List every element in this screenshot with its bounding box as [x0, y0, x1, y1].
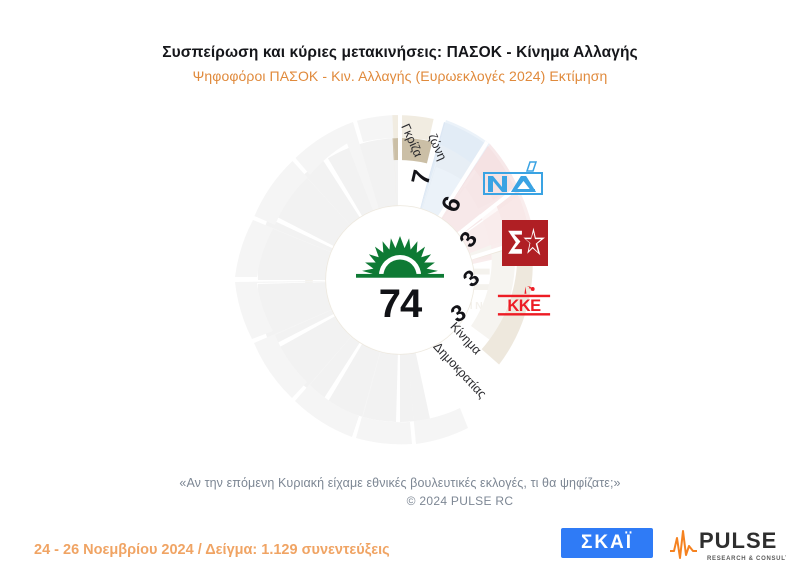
fieldwork-date-sample: 24 - 26 Νοεμβρίου 2024 / Δείγμα: 1.129 σ…	[34, 542, 390, 558]
kke-logo: ΚΚΕ	[495, 285, 553, 324]
pulse-waveform-icon	[670, 531, 697, 558]
copyright-text: © 2024 PULSE RC	[0, 494, 800, 508]
pulse-logo: PULSE RESEARCH & CONSULTING	[668, 523, 786, 565]
donut-chart: PULSE RESEARCH & CONSULTING	[150, 120, 650, 440]
svg-text:PULSE: PULSE	[699, 528, 777, 553]
pasok-sun-icon	[354, 236, 446, 280]
survey-question: «Αν την επόμενη Κυριακή είχαμε εθνικές β…	[0, 476, 800, 490]
svg-text:ΚΚΕ: ΚΚΕ	[507, 297, 541, 315]
skai-logo-label: ΣΚΑΪ	[581, 532, 633, 554]
nd-logo	[482, 161, 544, 202]
footnote-block: «Αν την επόμενη Κυριακή είχαμε εθνικές β…	[0, 476, 800, 508]
donut-wheel: PULSE RESEARCH & CONSULTING	[190, 70, 610, 490]
skai-logo: ΣΚΑΪ	[561, 528, 653, 558]
syriza-logo	[502, 220, 548, 271]
svg-text:RESEARCH & CONSULTING: RESEARCH & CONSULTING	[707, 556, 786, 562]
page-title: Συσπείρωση και κύριες μετακινήσεις: ΠΑΣΟ…	[0, 44, 800, 62]
center-value: 74	[379, 284, 422, 324]
